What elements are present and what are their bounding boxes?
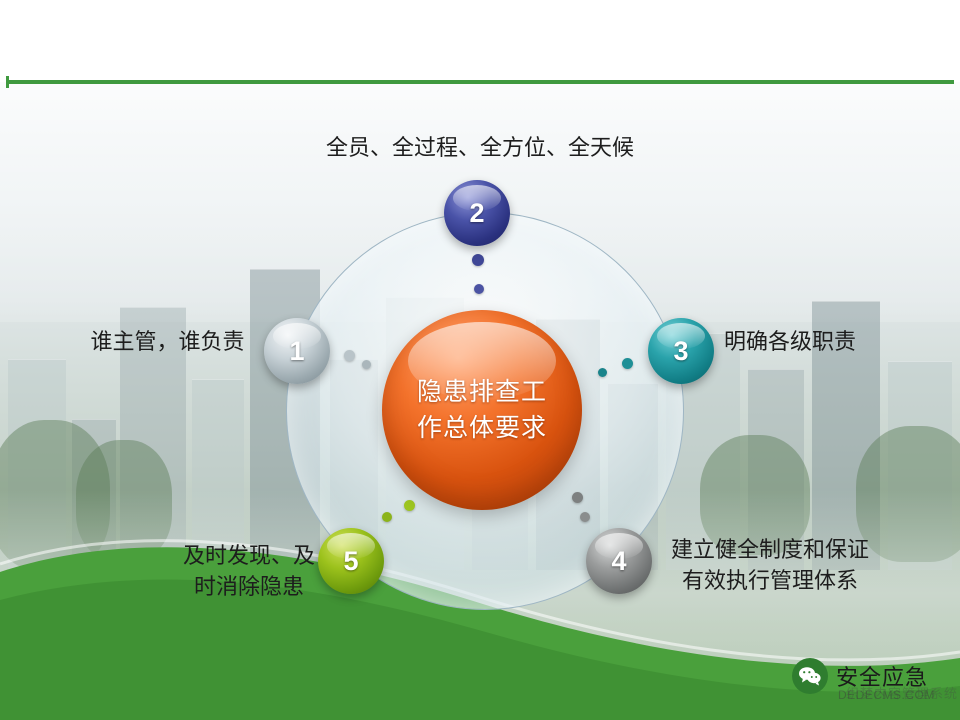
node-3[interactable]: 3 bbox=[648, 318, 714, 384]
connector-dot bbox=[580, 512, 590, 522]
node-3-number: 3 bbox=[673, 336, 688, 367]
connector-dot bbox=[622, 358, 633, 369]
slide-canvas: 隐患排查工 作总体要求 1 2 3 4 5 全员、全过程、全方位、全天候 谁主管… bbox=[0, 0, 960, 720]
top-divider bbox=[6, 80, 954, 84]
core-label: 隐患排查工 作总体要求 bbox=[417, 374, 547, 447]
caption-node-4: 建立健全制度和保证 有效执行管理体系 bbox=[652, 534, 888, 596]
node-1-number: 1 bbox=[289, 336, 304, 367]
connector-dot bbox=[472, 254, 484, 266]
connector-dot bbox=[382, 512, 392, 522]
connector-dot bbox=[344, 350, 355, 361]
core-label-line1: 隐患排查工 bbox=[417, 374, 547, 410]
core-label-line2: 作总体要求 bbox=[417, 410, 547, 446]
node-2-number: 2 bbox=[469, 198, 484, 229]
connector-dot bbox=[598, 368, 607, 377]
connector-dot bbox=[362, 360, 371, 369]
node-4-number: 4 bbox=[611, 546, 626, 577]
wechat-icon bbox=[792, 658, 828, 694]
caption-node-5-line1: 及时发现、及 bbox=[140, 540, 358, 571]
core-sphere: 隐患排查工 作总体要求 bbox=[382, 310, 582, 510]
node-4[interactable]: 4 bbox=[586, 528, 652, 594]
caption-node-4-line1: 建立健全制度和保证 bbox=[652, 534, 888, 565]
caption-node-2: 全员、全过程、全方位、全天候 bbox=[300, 132, 660, 163]
node-2[interactable]: 2 bbox=[444, 180, 510, 246]
caption-node-1: 谁主管，谁负责 bbox=[70, 326, 265, 357]
node-5-number: 5 bbox=[343, 546, 358, 577]
caption-node-4-line2: 有效执行管理体系 bbox=[652, 565, 888, 596]
connector-dot bbox=[572, 492, 583, 503]
caption-node-3: 明确各级职责 bbox=[724, 326, 924, 357]
caption-node-5: 及时发现、及 时消除隐患 bbox=[140, 540, 358, 602]
wechat-glyph bbox=[798, 666, 822, 686]
caption-node-5-line2: 时消除隐患 bbox=[140, 571, 358, 602]
node-1[interactable]: 1 bbox=[264, 318, 330, 384]
connector-dot bbox=[404, 500, 415, 511]
watermark-text: DEDECMS.COM bbox=[838, 688, 935, 702]
connector-dot bbox=[474, 284, 484, 294]
